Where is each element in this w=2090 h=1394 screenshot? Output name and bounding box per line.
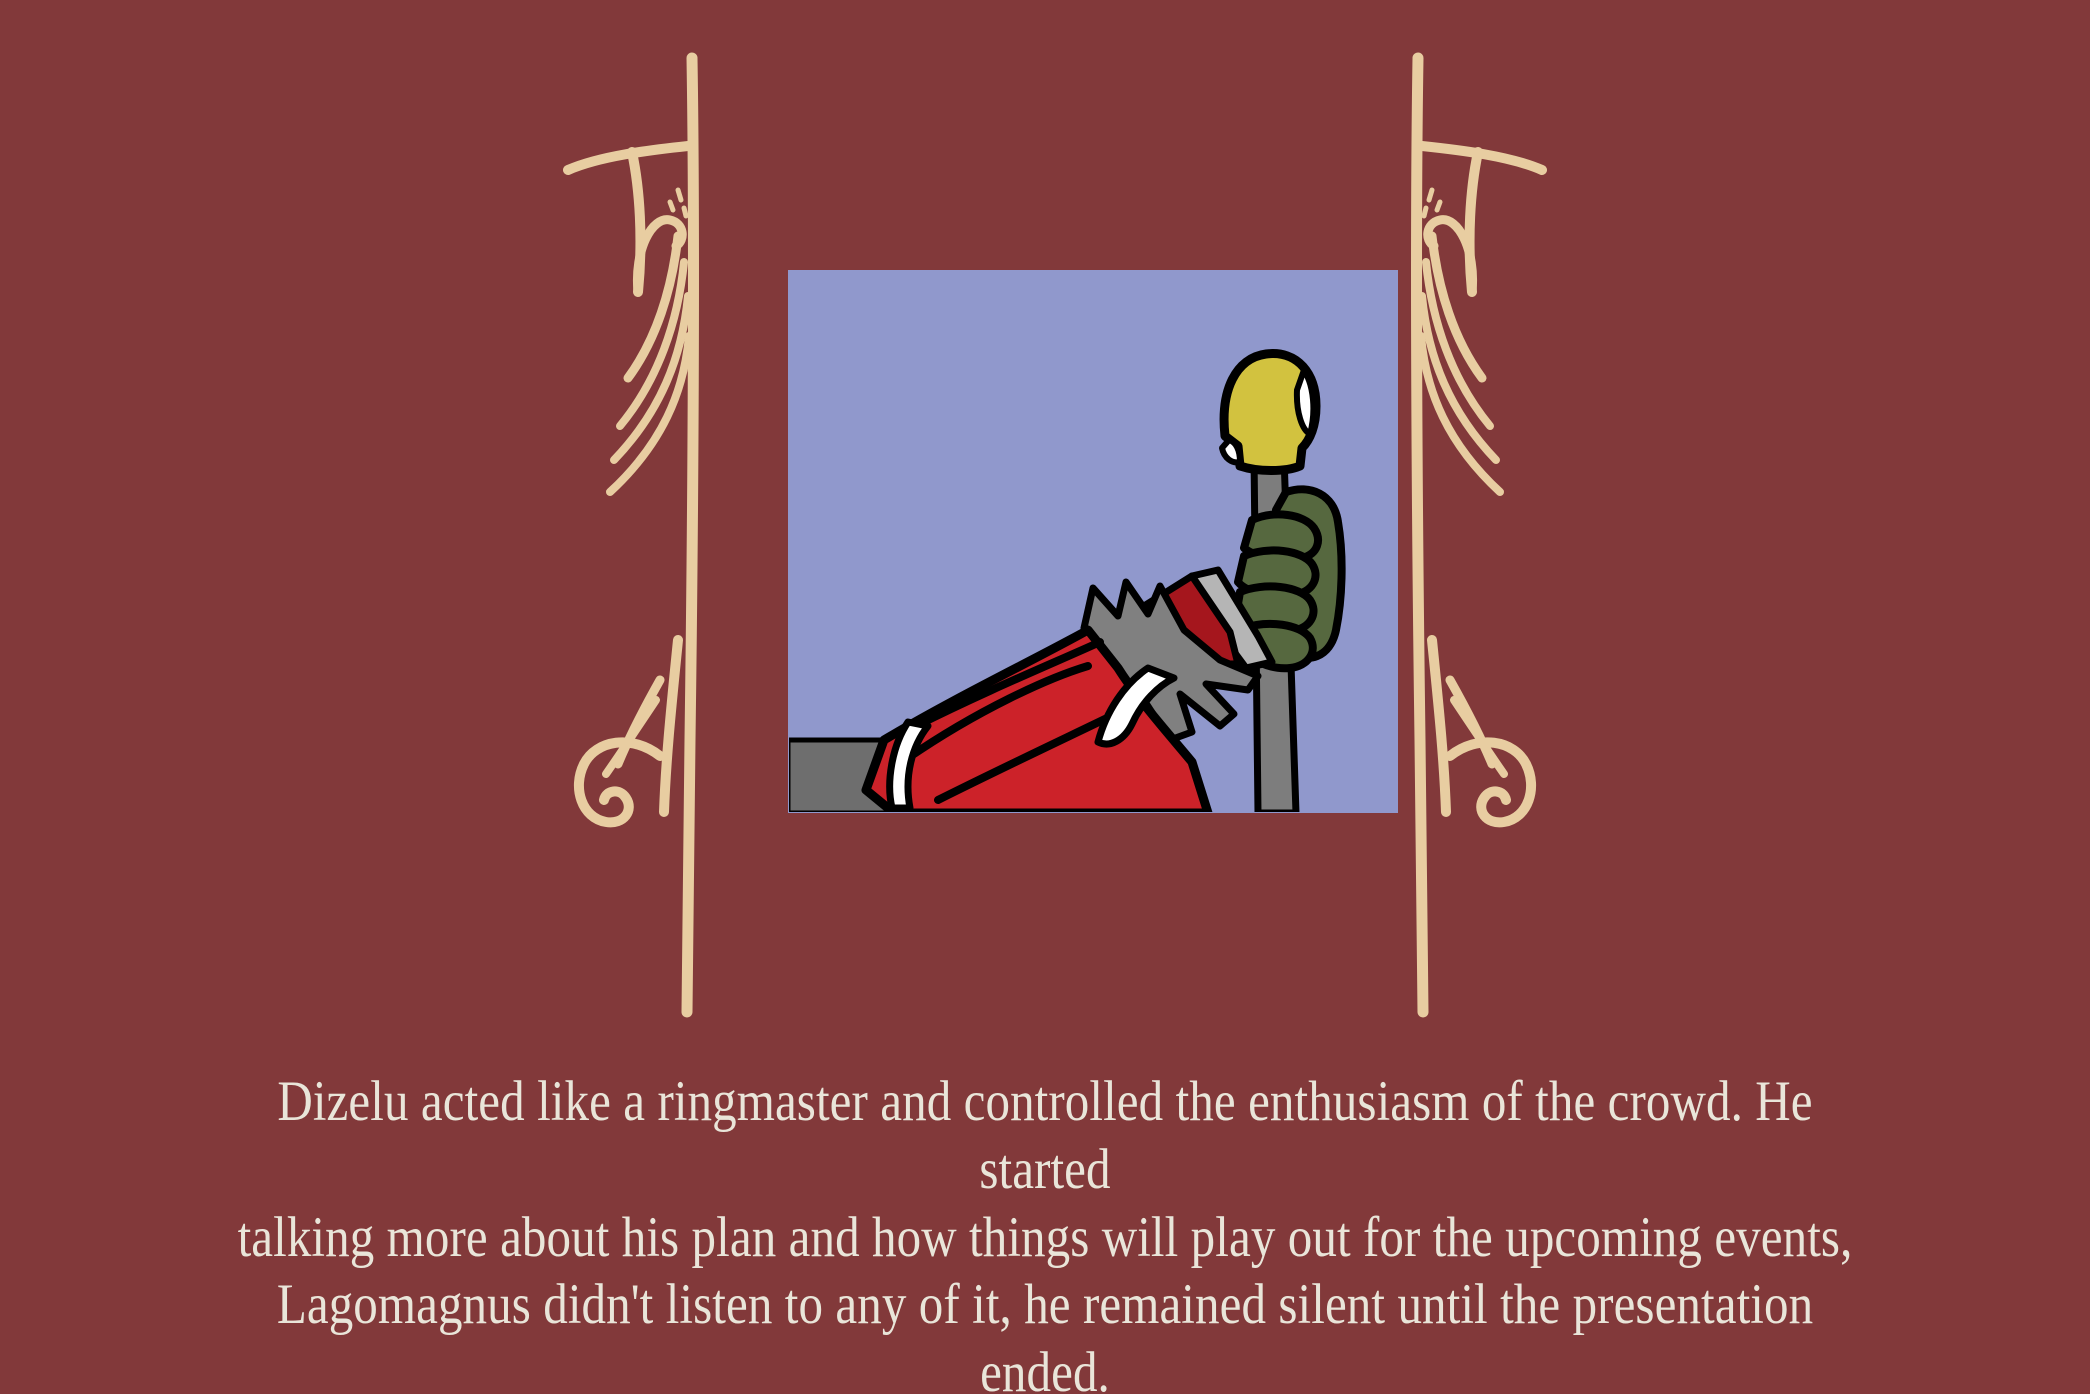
caption-text: Dizelu acted like a ringmaster and contr… (0, 1068, 2090, 1394)
story-page: Dizelu acted like a ringmaster and contr… (0, 0, 2090, 1394)
caption-line-2: talking more about his plan and how thin… (215, 1204, 1875, 1272)
caption-line-1: Dizelu acted like a ringmaster and contr… (215, 1068, 1875, 1204)
caption-line-3: Lagomagnus didn't listen to any of it, h… (215, 1271, 1875, 1394)
yellow-banner-finial (1222, 354, 1316, 471)
comic-panel-illustration (788, 270, 1398, 813)
